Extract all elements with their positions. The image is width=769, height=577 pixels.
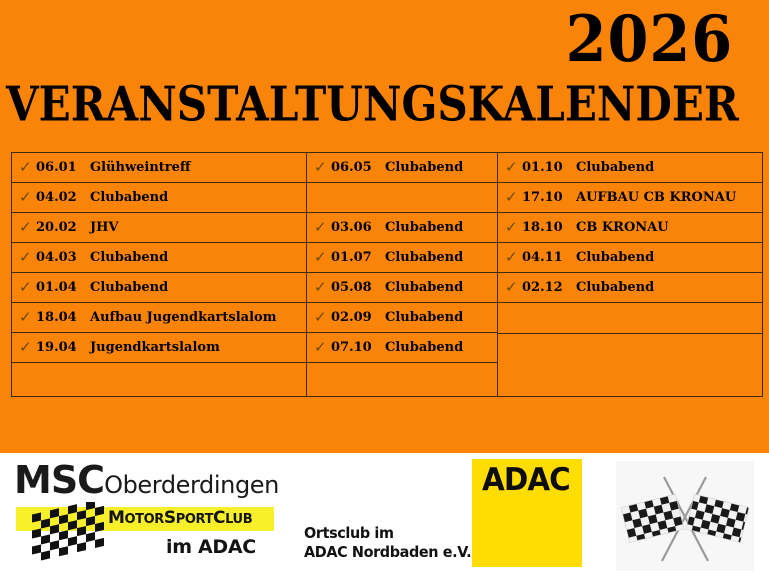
event-name: Aufbau Jugendkartslalom [90, 310, 276, 325]
check-icon: ✓ [314, 280, 331, 295]
event-name: Clubabend [385, 160, 463, 175]
event-name: Clubabend [385, 280, 463, 295]
table-row[interactable]: ✓ 01.04 Clubabend [12, 273, 306, 303]
event-name: Clubabend [90, 190, 168, 205]
event-name: JHV [90, 220, 119, 235]
event-name: Clubabend [576, 160, 654, 175]
calendar-column-2: ✓ 06.05 Clubabend ✓ 03.06 Clubabe [307, 153, 498, 397]
event-date: 01.10 [522, 160, 576, 175]
check-icon: ✓ [19, 220, 36, 235]
adac-wordmark: ADAC [482, 464, 570, 496]
table-row[interactable]: ✓ 01.07 Clubabend [307, 243, 497, 273]
footer-logo-strip: MSCOberderdingen [0, 453, 769, 577]
check-icon: ✓ [19, 250, 36, 265]
event-date: 20.02 [36, 220, 90, 235]
event-date: 18.10 [522, 220, 576, 235]
event-date: 04.11 [522, 250, 576, 265]
msc-full-name-otor: OTOR [125, 512, 164, 527]
crossed-flags-panel [616, 461, 754, 571]
event-name: AUFBAU CB KRONAU [576, 190, 736, 205]
column-2-rows: ✓ 06.05 Clubabend ✓ 03.06 Clubabe [307, 153, 497, 363]
table-row[interactable]: ✓ 04.03 Clubabend [12, 243, 306, 273]
msc-logo-headline: MSCOberderdingen [14, 461, 279, 499]
crossed-checkered-flags-icon [616, 461, 754, 571]
event-date: 06.05 [331, 160, 385, 175]
event-date: 03.06 [331, 220, 385, 235]
check-icon: ✓ [19, 340, 36, 355]
msc-abbreviation: MSC [14, 458, 104, 502]
table-row-empty [498, 303, 762, 334]
event-name: Clubabend [385, 220, 463, 235]
adac-caption-line-2: ADAC Nordbaden e.V. [304, 543, 471, 562]
table-row[interactable]: ✓ 05.08 Clubabend [307, 273, 497, 303]
event-name: Clubabend [90, 280, 168, 295]
event-calendar-poster: 2026 VERANSTALTUNGSKALENDER ✓ 06.01 Glüh… [0, 0, 769, 577]
column-1-rows: ✓ 06.01 Glühweintreff ✓ 04.02 Clubabend … [12, 153, 306, 363]
check-icon: ✓ [505, 190, 522, 205]
msc-full-name-port: PORT [176, 512, 213, 527]
check-icon: ✓ [314, 160, 331, 175]
event-date: 06.01 [36, 160, 90, 175]
msc-oberderdingen-logo: MSCOberderdingen [14, 457, 289, 573]
check-icon: ✓ [505, 280, 522, 295]
event-date: 02.09 [331, 310, 385, 325]
table-row[interactable]: ✓ 06.01 Glühweintreff [12, 153, 306, 183]
check-icon: ✓ [314, 220, 331, 235]
calendar-table: ✓ 06.01 Glühweintreff ✓ 04.02 Clubabend … [11, 152, 763, 397]
table-row-empty [307, 183, 497, 213]
column-3-rows: ✓ 01.10 Clubabend ✓ 17.10 AUFBAU CB KRON… [498, 153, 762, 364]
check-icon: ✓ [19, 190, 36, 205]
event-name: Clubabend [385, 310, 463, 325]
table-row[interactable]: ✓ 03.06 Clubabend [307, 213, 497, 243]
msc-full-name-lub: LUB [225, 512, 252, 527]
table-row-empty [498, 334, 762, 364]
event-date: 02.12 [522, 280, 576, 295]
table-row[interactable]: ✓ 06.05 Clubabend [307, 153, 497, 183]
calendar-column-1: ✓ 06.01 Glühweintreff ✓ 04.02 Clubabend … [12, 153, 307, 397]
event-name: Clubabend [576, 280, 654, 295]
event-date: 19.04 [36, 340, 90, 355]
event-date: 04.02 [36, 190, 90, 205]
msc-full-name-m: M [108, 508, 125, 528]
check-icon: ✓ [505, 220, 522, 235]
check-icon: ✓ [314, 310, 331, 325]
event-date: 04.03 [36, 250, 90, 265]
table-row[interactable]: ✓ 01.10 Clubabend [498, 153, 762, 183]
adac-ortsclub-logo: ADAC Ortsclub im ADAC Nordbaden e.V. [300, 457, 585, 573]
table-row[interactable]: ✓ 19.04 Jugendkartslalom [12, 333, 306, 363]
event-date: 01.04 [36, 280, 90, 295]
calendar-column-3: ✓ 01.10 Clubabend ✓ 17.10 AUFBAU CB KRON… [498, 153, 763, 397]
table-row[interactable]: ✓ 04.02 Clubabend [12, 183, 306, 213]
table-row[interactable]: ✓ 18.04 Aufbau Jugendkartslalom [12, 303, 306, 333]
msc-full-name-s: S [164, 508, 176, 528]
event-date: 18.04 [36, 310, 90, 325]
event-name: Jugendkartslalom [90, 340, 220, 355]
event-name: Clubabend [385, 250, 463, 265]
event-name: Clubabend [385, 340, 463, 355]
adac-caption-line-1: Ortsclub im [304, 524, 471, 543]
msc-town-name: Oberderdingen [104, 471, 279, 499]
check-icon: ✓ [314, 340, 331, 355]
table-row[interactable]: ✓ 02.12 Clubabend [498, 273, 762, 303]
table-row[interactable]: ✓ 17.10 AUFBAU CB KRONAU [498, 183, 762, 213]
check-icon: ✓ [505, 160, 522, 175]
event-name: CB KRONAU [576, 220, 669, 235]
table-row[interactable]: ✓ 20.02 JHV [12, 213, 306, 243]
event-date: 07.10 [331, 340, 385, 355]
event-name: Glühweintreff [90, 160, 191, 175]
adac-caption: Ortsclub im ADAC Nordbaden e.V. [304, 524, 471, 562]
page-title: VERANSTALTUNGSKALENDER [6, 80, 739, 128]
table-row[interactable]: ✓ 04.11 Clubabend [498, 243, 762, 273]
event-date: 05.08 [331, 280, 385, 295]
check-icon: ✓ [19, 280, 36, 295]
orange-banner-area: 2026 VERANSTALTUNGSKALENDER ✓ 06.01 Glüh… [0, 0, 769, 453]
event-date: 01.07 [331, 250, 385, 265]
msc-full-name-c: C [213, 508, 225, 528]
table-row[interactable]: ✓ 07.10 Clubabend [307, 333, 497, 363]
year-heading: 2026 [565, 8, 733, 72]
event-name: Clubabend [90, 250, 168, 265]
check-icon: ✓ [19, 160, 36, 175]
event-name: Clubabend [576, 250, 654, 265]
msc-im-adac-label: im ADAC [166, 537, 256, 558]
event-date: 17.10 [522, 190, 576, 205]
check-icon: ✓ [19, 310, 36, 325]
table-row[interactable]: ✓ 02.09 Clubabend [307, 303, 497, 333]
msc-full-name: MOTORSPORTCLUB [108, 509, 252, 529]
checkered-flag-icon [30, 502, 106, 564]
check-icon: ✓ [314, 250, 331, 265]
check-icon: ✓ [505, 250, 522, 265]
table-row[interactable]: ✓ 18.10 CB KRONAU [498, 213, 762, 243]
